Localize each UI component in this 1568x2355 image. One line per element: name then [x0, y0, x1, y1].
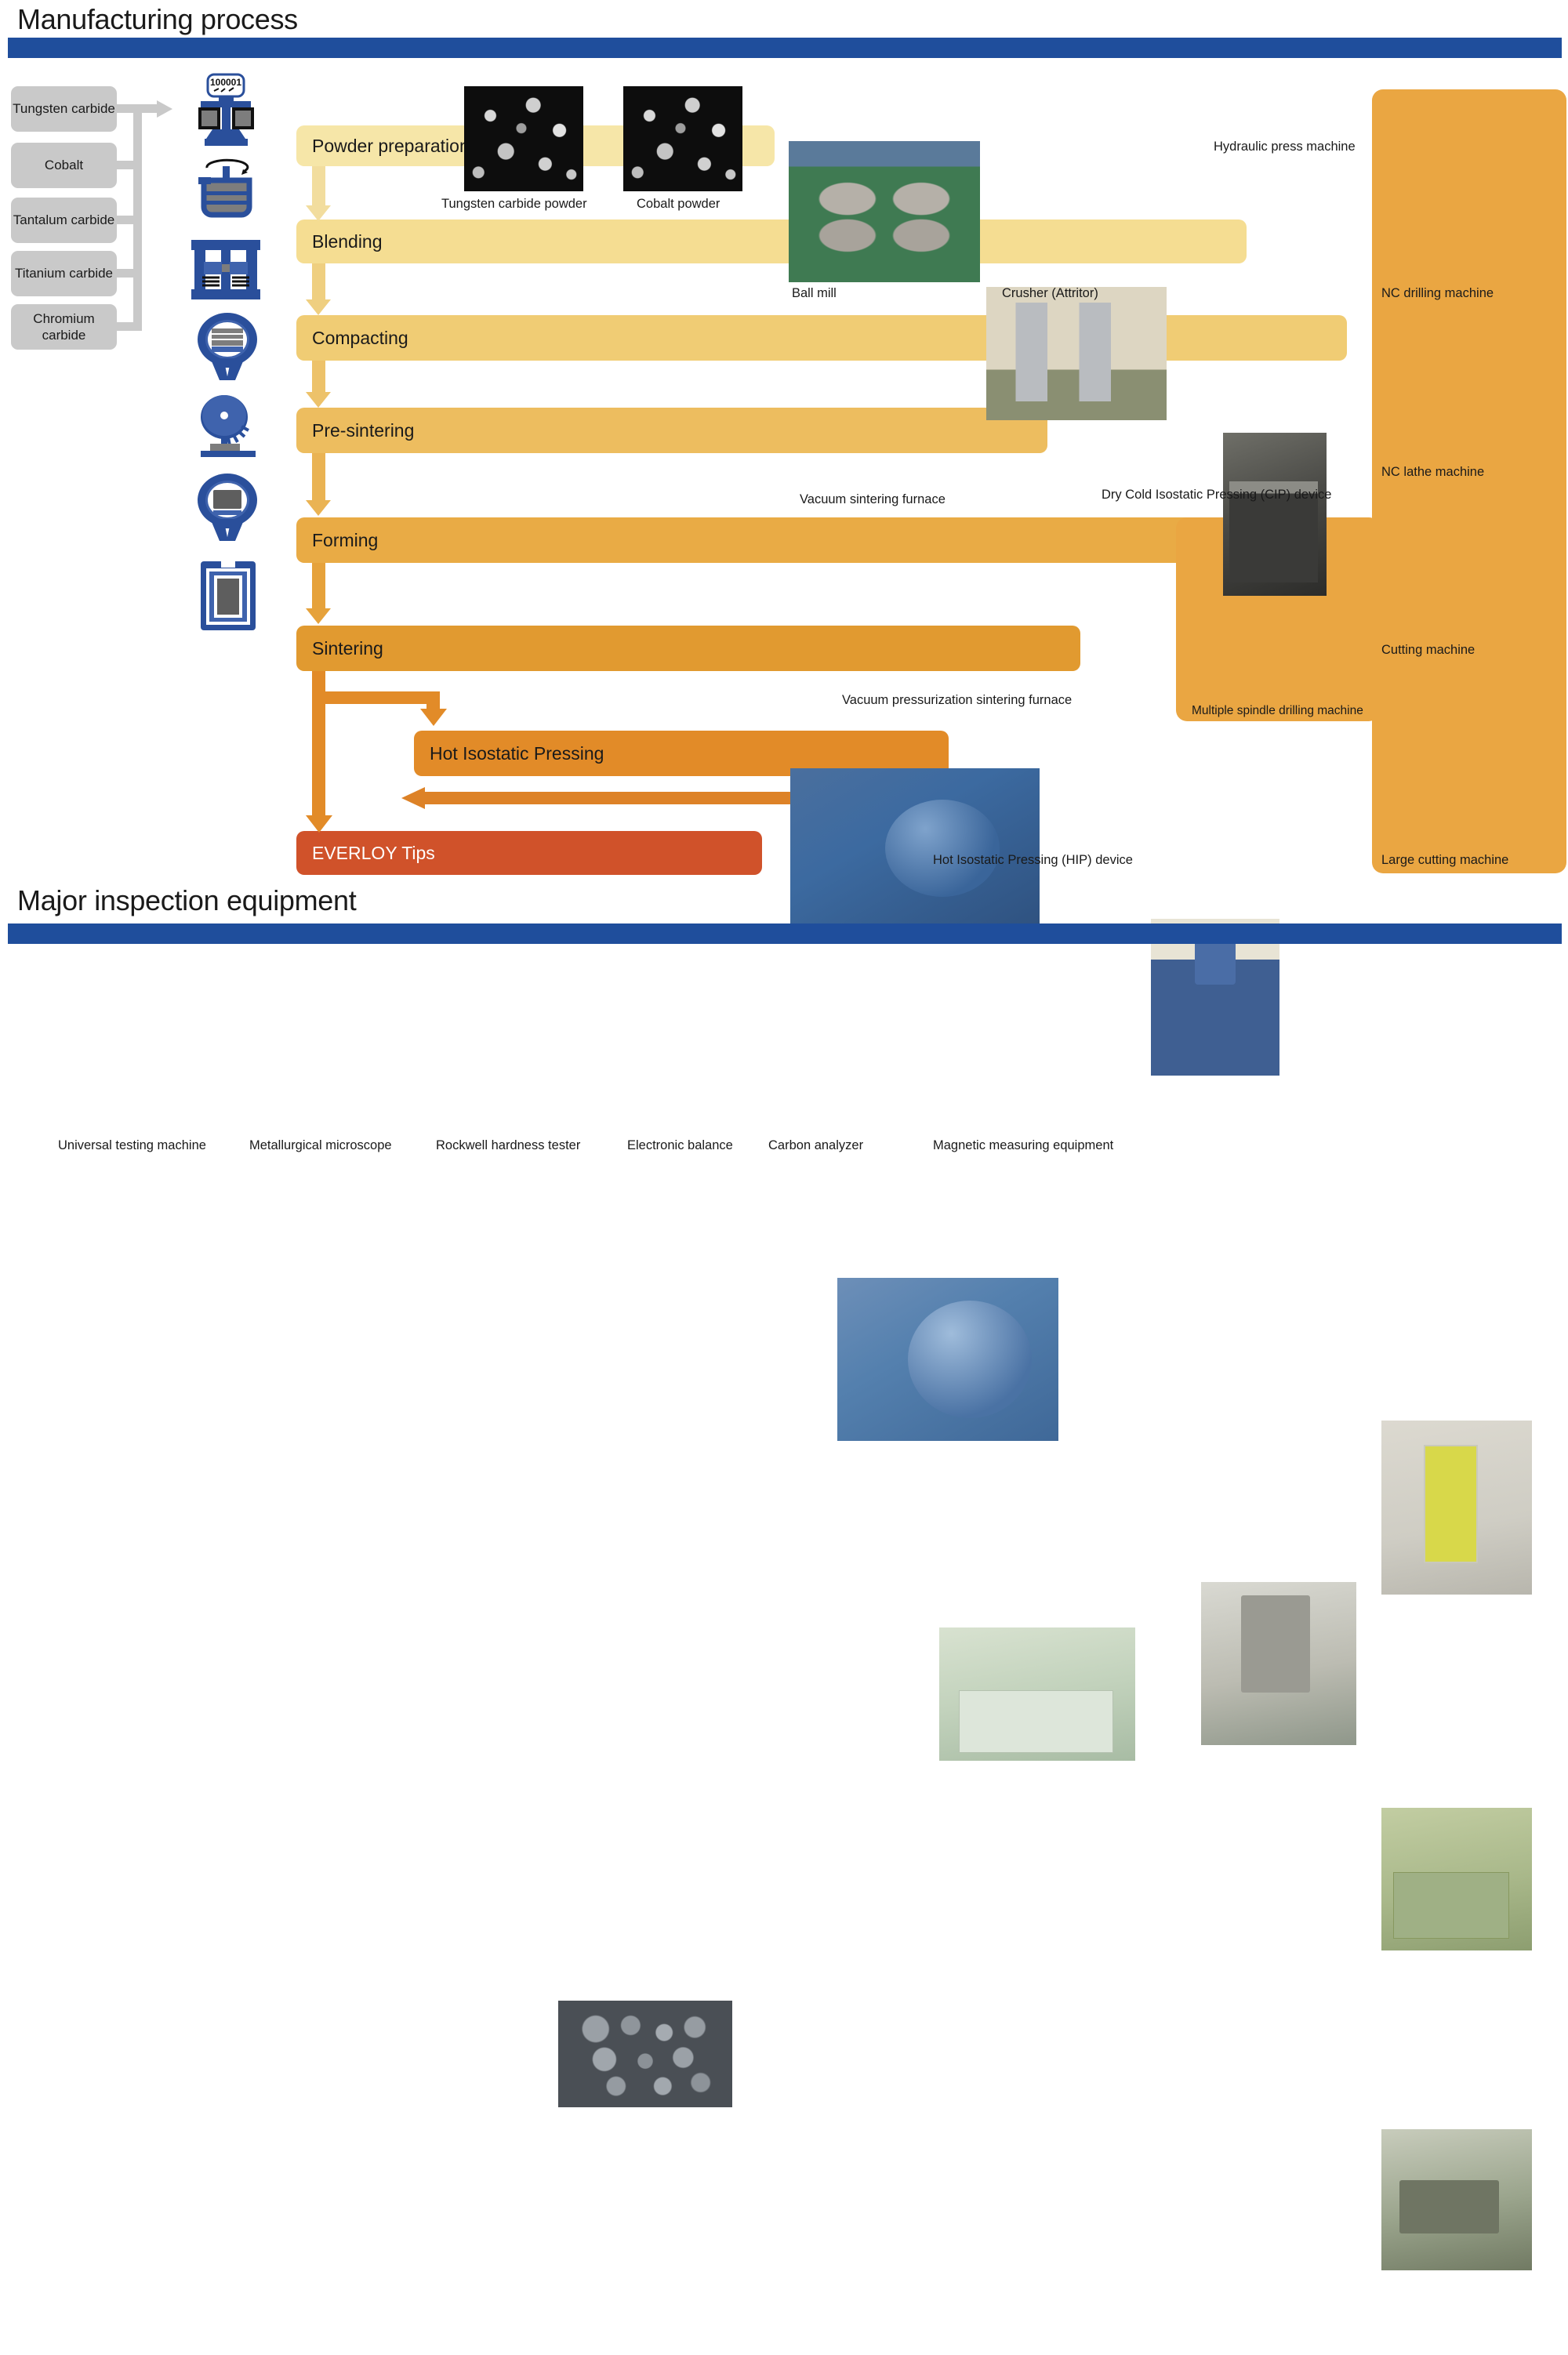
process-step-label: Pre-sintering — [312, 420, 414, 441]
furnace-icon — [191, 470, 263, 542]
crusher-attritor-photo[interactable] — [986, 287, 1167, 420]
hip-device-photo[interactable] — [939, 1627, 1135, 1761]
photo-caption: Rockwell hardness tester — [436, 1138, 580, 1153]
flow-arrow — [306, 608, 331, 624]
photo-caption: Universal testing machine — [58, 1138, 206, 1153]
photo-caption: Dry Cold Isostatic Pressing (CIP) device — [1102, 488, 1331, 503]
grinding-wheel-icon — [193, 392, 262, 459]
inspection-header-rule — [8, 923, 1562, 944]
ball-mill-photo[interactable] — [789, 141, 980, 282]
process-step-label: Sintering — [312, 638, 383, 659]
material-label: Tungsten carbide — [13, 100, 115, 117]
material-box-chromium-carbide[interactable]: Chromium carbide — [11, 304, 117, 350]
process-step-compacting[interactable]: Compacting — [296, 315, 1347, 361]
photo-caption: Cutting machine — [1381, 643, 1475, 658]
process-step-label: Powder preparation — [312, 136, 470, 157]
hip-chamber-icon — [198, 558, 259, 633]
multiple-spindle-drilling-machine-photo[interactable] — [1201, 1582, 1356, 1745]
photo-caption: Hydraulic press machine — [1214, 140, 1356, 154]
photo-caption: Magnetic measuring equipment — [933, 1138, 1113, 1153]
nc-drilling-machine-photo[interactable] — [1381, 1421, 1532, 1595]
machining-equipment-panel — [1372, 89, 1566, 873]
vacuum-pressurization-sintering-furnace-photo[interactable] — [837, 1278, 1058, 1441]
flow-arrow — [420, 709, 447, 726]
flow-connector-branch — [426, 691, 440, 710]
photo-caption: Hot Isostatic Pressing (HIP) device — [933, 853, 1133, 868]
flow-connector — [312, 453, 325, 502]
material-label: Chromium carbide — [11, 310, 117, 344]
process-step-label: Compacting — [312, 328, 408, 349]
flow-arrow — [306, 500, 331, 516]
photo-caption: NC drilling machine — [1381, 286, 1494, 301]
material-box-titanium-carbide[interactable]: Titanium carbide — [11, 251, 117, 296]
flow-connector — [312, 563, 325, 610]
material-box-tantalum-carbide[interactable]: Tantalum carbide — [11, 198, 117, 243]
vacuum-sintering-furnace-photo[interactable] — [790, 768, 1040, 925]
hydraulic-press-machine-photo[interactable] — [1223, 433, 1327, 596]
process-step-everloy-tips[interactable]: EVERLOY Tips — [296, 831, 762, 875]
weighing-scale-icon: 100001 — [188, 72, 263, 147]
process-step-label: Blending — [312, 231, 383, 252]
photo-caption: Carbon analyzer — [768, 1138, 863, 1153]
material-box-cobalt[interactable]: Cobalt — [11, 143, 117, 188]
photo-caption: NC lathe machine — [1381, 465, 1484, 480]
page-title-inspection: Major inspection equipment — [17, 884, 356, 917]
tungsten-carbide-powder-photo[interactable] — [464, 86, 583, 191]
process-step-label: Hot Isostatic Pressing — [430, 743, 604, 764]
press-machine-icon — [187, 237, 265, 303]
cobalt-powder-photo[interactable] — [623, 86, 742, 191]
page-title-manufacturing: Manufacturing process — [17, 3, 298, 36]
flow-arrow — [306, 392, 331, 408]
material-label: Titanium carbide — [15, 265, 113, 281]
photo-caption: Electronic balance — [627, 1138, 733, 1153]
material-box-tungsten-carbide[interactable]: Tungsten carbide — [11, 86, 117, 132]
material-trunk-line — [133, 104, 142, 331]
flow-connector — [312, 263, 325, 301]
cutting-machine-photo[interactable] — [1381, 2129, 1532, 2270]
photo-caption: Crusher (Attritor) — [1002, 286, 1098, 301]
svg-text:100001: 100001 — [210, 77, 241, 88]
nc-lathe-machine-photo[interactable] — [1381, 1808, 1532, 1950]
flow-connector — [312, 166, 325, 207]
flow-connector-branch — [312, 691, 439, 704]
process-step-forming[interactable]: Forming — [296, 517, 1207, 563]
process-step-label: EVERLOY Tips — [312, 843, 435, 864]
photo-caption: Large cutting machine — [1381, 853, 1508, 868]
flow-connector — [423, 792, 804, 804]
everloy-tips-product-photo[interactable] — [558, 2001, 732, 2107]
flow-arrow — [306, 299, 331, 315]
photo-caption: Cobalt powder — [637, 197, 720, 212]
process-step-sintering[interactable]: Sintering — [296, 626, 1080, 671]
manufacturing-header-rule — [8, 38, 1562, 58]
material-arrow-head — [157, 100, 172, 118]
flow-connector — [312, 361, 325, 394]
furnace-icon — [191, 310, 263, 382]
flow-arrow — [401, 787, 425, 809]
mixing-tank-icon — [191, 157, 262, 227]
photo-caption: Vacuum sintering furnace — [800, 492, 946, 507]
photo-caption: Multiple spindle drilling machine — [1192, 704, 1363, 718]
flow-arrow — [306, 205, 331, 221]
photo-caption: Vacuum pressurization sintering furnace — [842, 693, 1072, 708]
photo-caption: Ball mill — [792, 286, 837, 301]
material-label: Tantalum carbide — [13, 212, 114, 228]
photo-caption: Metallurgical microscope — [249, 1138, 392, 1153]
photo-caption: Tungsten carbide powder — [441, 197, 587, 212]
process-step-label: Forming — [312, 530, 378, 551]
process-step-blending[interactable]: Blending — [296, 220, 1247, 263]
material-label: Cobalt — [45, 157, 83, 173]
process-step-pre-sintering[interactable]: Pre-sintering — [296, 408, 1047, 453]
flow-arrow — [306, 815, 332, 833]
